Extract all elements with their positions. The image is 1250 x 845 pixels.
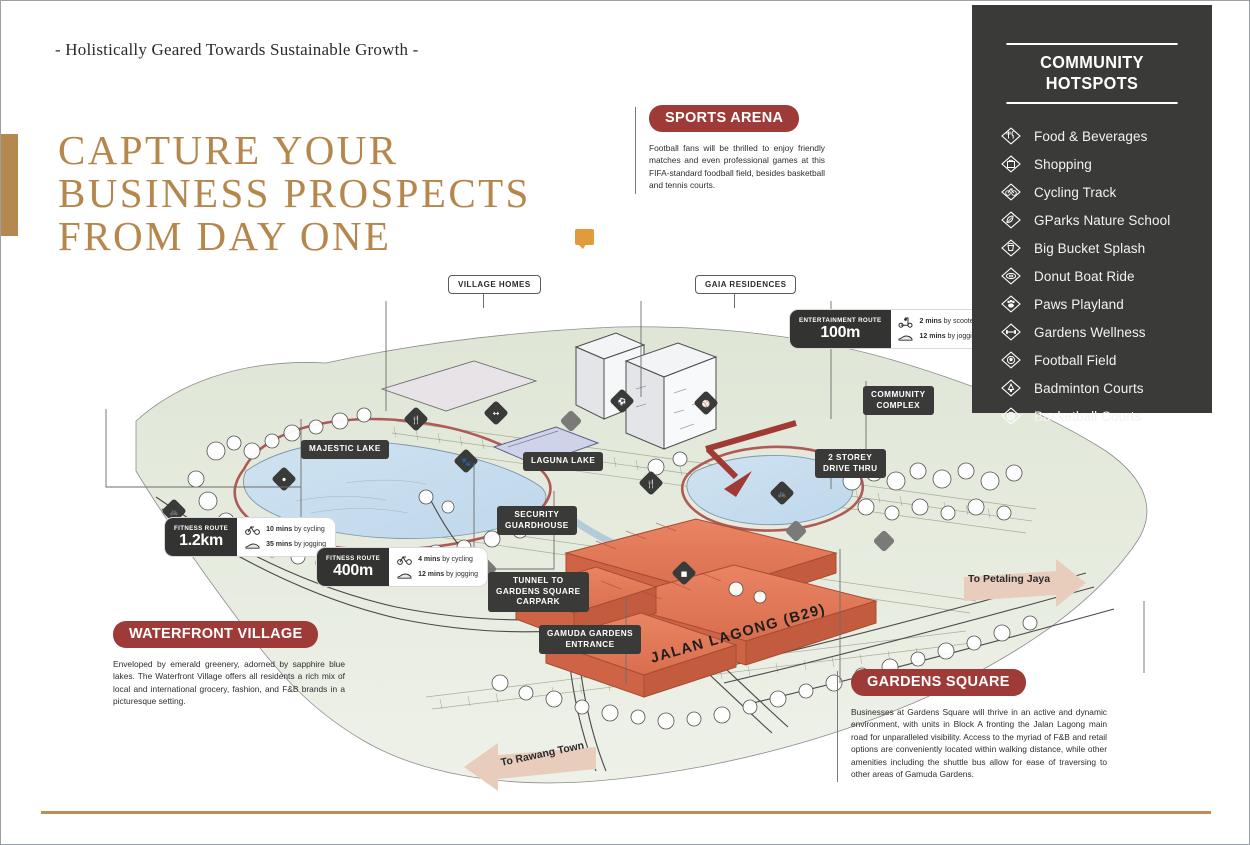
bicycle-icon xyxy=(1000,181,1022,203)
tagline: - Holistically Geared Towards Sustainabl… xyxy=(55,40,419,60)
bucket-splash-icon xyxy=(1000,237,1022,259)
chip-laguna-lake[interactable]: LAGUNA LAKE xyxy=(523,452,603,471)
callout-rule xyxy=(635,107,636,194)
tag-village-homes[interactable]: VILLAGE HOMES xyxy=(448,275,541,294)
headline-line-3: From Day One xyxy=(58,215,578,258)
legend-item-big-bucket-splash[interactable]: Big Bucket Splash xyxy=(1000,234,1212,262)
legend-item-basketball-courts[interactable]: Basketball Courts xyxy=(1000,402,1212,430)
poster-page: - Holistically Geared Towards Sustainabl… xyxy=(0,0,1250,845)
route-distance: 100m xyxy=(820,324,860,341)
shoe-icon xyxy=(244,538,260,551)
legend-item-label: Football Field xyxy=(1034,353,1116,368)
route-kicker: ENTERTAINMENT ROUTE xyxy=(799,317,882,325)
legend-item-food-beverages[interactable]: Food & Beverages xyxy=(1000,122,1212,150)
legend-item-badminton-courts[interactable]: Badminton Courts xyxy=(1000,374,1212,402)
chip-drive-thru[interactable]: 2 STOREY DRIVE THRU xyxy=(815,449,886,478)
dumbbell-icon xyxy=(1000,321,1022,343)
page-title: Capture Your Business Prospects From Day… xyxy=(58,129,578,258)
legend-item-label: Gardens Wellness xyxy=(1034,325,1146,340)
route-badge-fitness-1200m[interactable]: FITNESS ROUTE 1.2km 10 mins by cycling 3… xyxy=(165,518,335,556)
callout-rule xyxy=(837,671,838,782)
legend-item-label: Paws Playland xyxy=(1034,297,1124,312)
route-mode-row: 2 mins by scooter xyxy=(898,315,980,328)
svg-text:⚾: ⚾ xyxy=(701,399,711,408)
legend-item-label: Donut Boat Ride xyxy=(1034,269,1135,284)
shopping-bag-icon xyxy=(1000,153,1022,175)
route-distance-block: FITNESS ROUTE 1.2km xyxy=(165,518,237,556)
note-marker-icon xyxy=(575,229,594,245)
leader-gaia-residences xyxy=(734,294,735,308)
shoe-icon xyxy=(898,330,914,343)
direction-label: To Petaling Jaya xyxy=(968,573,1050,585)
chip-security-guardhouse[interactable]: SECURITY GUARDHOUSE xyxy=(497,506,577,535)
legend-item-gardens-wellness[interactable]: Gardens Wellness xyxy=(1000,318,1212,346)
route-mode-row: 35 mins by jogging xyxy=(244,538,326,551)
headline-line-2: Business Prospects xyxy=(58,172,578,215)
route-mode-text: 35 mins by jogging xyxy=(266,541,326,548)
legend-item-football-field[interactable]: Football Field xyxy=(1000,346,1212,374)
bicycle-icon xyxy=(244,523,260,536)
paw-icon xyxy=(1000,293,1022,315)
svg-text:■: ■ xyxy=(681,570,688,578)
chip-gamuda-entrance[interactable]: GAMUDA GARDENS ENTRANCE xyxy=(539,625,641,654)
route-distance: 1.2km xyxy=(179,532,223,549)
shuttlecock-icon xyxy=(1000,377,1022,399)
route-mode-text: 10 mins by cycling xyxy=(266,526,325,533)
legend-item-shopping[interactable]: Shopping xyxy=(1000,150,1212,178)
scooter-icon xyxy=(898,315,914,328)
legend-list: Food & BeveragesShoppingCycling TrackGPa… xyxy=(1000,122,1212,430)
leaf-icon xyxy=(1000,209,1022,231)
shoe-icon xyxy=(396,568,412,581)
route-badge-fitness-400m[interactable]: FITNESS ROUTE 400m 4 mins by cycling 12 … xyxy=(317,548,487,586)
callout-body: Businesses at Gardens Square will thrive… xyxy=(851,706,1107,780)
route-mode-row: 12 mins by jogging xyxy=(898,330,980,343)
headline-line-1: Capture Your xyxy=(58,129,578,172)
route-kicker: FITNESS ROUTE xyxy=(326,555,380,563)
legend-item-gparks-nature-school[interactable]: GParks Nature School xyxy=(1000,206,1212,234)
svg-text:🚲: 🚲 xyxy=(778,490,787,498)
callout-body: Enveloped by emerald greenery, adorned b… xyxy=(113,658,345,708)
basketball-icon xyxy=(1000,405,1022,427)
tag-gaia-residences[interactable]: GAIA RESIDENCES xyxy=(695,275,796,294)
legend-item-donut-boat-ride[interactable]: Donut Boat Ride xyxy=(1000,262,1212,290)
callout-sports-arena: SPORTS ARENA Football fans will be thril… xyxy=(649,105,825,192)
svg-text:🍴: 🍴 xyxy=(646,479,656,489)
legend-item-label: Cycling Track xyxy=(1034,185,1116,200)
donut-boat-icon xyxy=(1000,265,1022,287)
callout-gardens-square: GARDENS SQUARE Businesses at Gardens Squ… xyxy=(851,669,1107,780)
football-icon xyxy=(1000,349,1022,371)
route-mode-row: 10 mins by cycling xyxy=(244,523,326,536)
legend-item-label: GParks Nature School xyxy=(1034,213,1170,228)
route-distance-block: FITNESS ROUTE 400m xyxy=(317,548,389,586)
community-hotspots-panel: COMMUNITY HOTSPOTS Food & BeveragesShopp… xyxy=(972,5,1212,413)
bicycle-icon xyxy=(396,553,412,566)
legend-item-label: Big Bucket Splash xyxy=(1034,241,1145,256)
bronze-accent-tab xyxy=(1,134,18,236)
callout-title[interactable]: SPORTS ARENA xyxy=(649,105,799,132)
callout-waterfront-village: WATERFRONT VILLAGE Enveloped by emerald … xyxy=(113,621,345,708)
chip-community-complex[interactable]: COMMUNITY COMPLEX xyxy=(863,386,934,415)
leader-village-homes xyxy=(483,294,484,308)
callout-title[interactable]: GARDENS SQUARE xyxy=(851,669,1026,696)
legend-item-cycling-track[interactable]: Cycling Track xyxy=(1000,178,1212,206)
legend-item-label: Basketball Courts xyxy=(1034,409,1142,424)
svg-text:↔: ↔ xyxy=(493,409,500,418)
callout-title[interactable]: WATERFRONT VILLAGE xyxy=(113,621,318,648)
chip-tunnel-carpark[interactable]: TUNNEL TO GARDENS SQUARE CARPARK xyxy=(488,572,589,612)
chip-majestic-lake[interactable]: MAJESTIC LAKE xyxy=(301,440,389,459)
route-mode-text: 4 mins by cycling xyxy=(418,556,473,563)
legend-item-label: Badminton Courts xyxy=(1034,381,1144,396)
cutlery-icon xyxy=(1000,125,1022,147)
legend-item-label: Shopping xyxy=(1034,157,1092,172)
svg-text:🍴: 🍴 xyxy=(411,415,421,425)
callout-body: Football fans will be thrilled to enjoy … xyxy=(649,142,825,192)
svg-text:⚽: ⚽ xyxy=(617,397,627,406)
svg-text:🚲: 🚲 xyxy=(170,508,179,516)
direction-to-petaling-jaya: To Petaling Jaya xyxy=(968,573,1050,585)
route-kicker: FITNESS ROUTE xyxy=(174,525,228,533)
route-distance-block: ENTERTAINMENT ROUTE 100m xyxy=(790,310,891,348)
svg-text:⚫: ⚫ xyxy=(281,476,287,484)
route-mode-text: 12 mins by jogging xyxy=(418,571,478,578)
route-mode-row: 12 mins by jogging xyxy=(396,568,478,581)
route-badge-entertainment-100m[interactable]: ENTERTAINMENT ROUTE 100m 2 mins by scoot… xyxy=(790,310,988,348)
route-mode-text: 2 mins by scooter xyxy=(920,318,976,325)
route-distance: 400m xyxy=(333,562,373,579)
legend-item-label: Food & Beverages xyxy=(1034,129,1147,144)
route-modes: 4 mins by cycling 12 mins by jogging xyxy=(389,548,487,586)
legend-title: COMMUNITY HOTSPOTS xyxy=(1006,43,1177,104)
route-mode-row: 4 mins by cycling xyxy=(396,553,478,566)
legend-item-paws-playland[interactable]: Paws Playland xyxy=(1000,290,1212,318)
route-mode-text: 12 mins by jogging xyxy=(920,333,980,340)
